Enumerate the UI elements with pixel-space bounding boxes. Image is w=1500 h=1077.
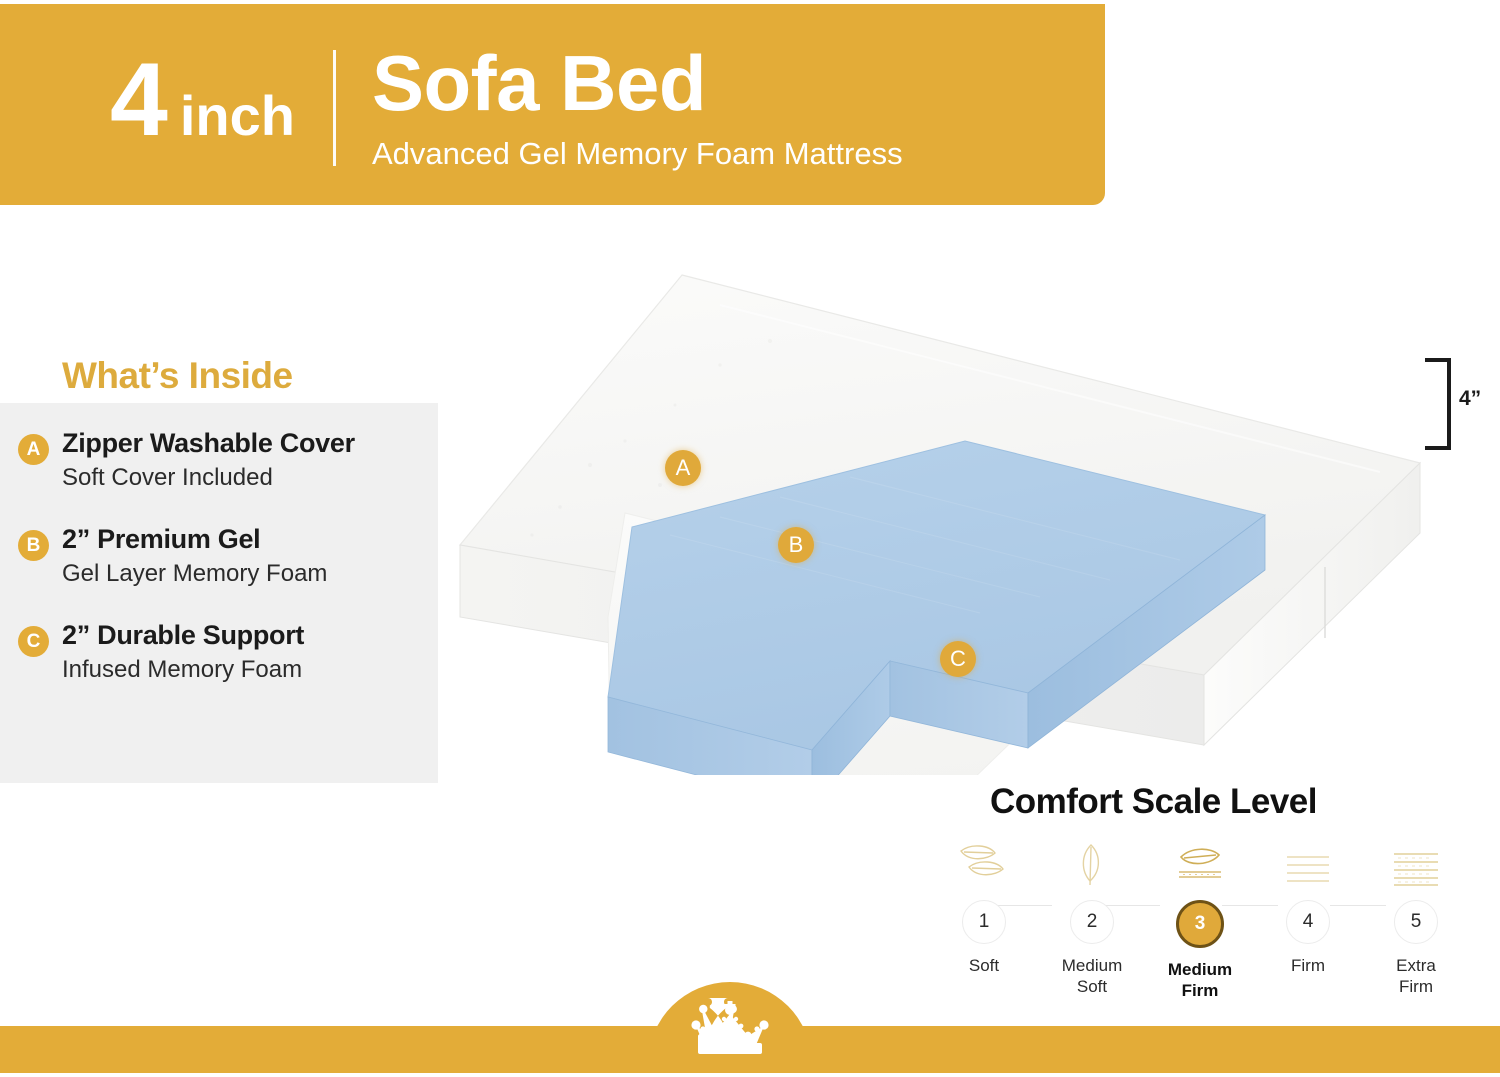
size-block: 4 inch bbox=[110, 40, 295, 148]
product-title: Sofa Bed bbox=[372, 44, 903, 122]
dense-lines-icon bbox=[1387, 836, 1445, 894]
scale-label-2-line2: Soft bbox=[1077, 977, 1107, 996]
badge-b: B bbox=[18, 530, 49, 561]
list-item-subtitle: Infused Memory Foam bbox=[62, 654, 304, 685]
list-item: B 2” Premium Gel Gel Layer Memory Foam bbox=[18, 524, 448, 589]
whats-inside-list: A Zipper Washable Cover Soft Cover Inclu… bbox=[18, 428, 448, 716]
header-divider bbox=[333, 50, 336, 166]
size-unit: inch bbox=[180, 91, 295, 141]
scale-level-1[interactable]: 1 Soft bbox=[930, 836, 1038, 1002]
bottom-rule bbox=[0, 1073, 1500, 1077]
list-item: C 2” Durable Support Infused Memory Foam bbox=[18, 620, 448, 685]
list-item-title: Zipper Washable Cover bbox=[62, 428, 355, 460]
callout-b-gel: B bbox=[778, 527, 814, 563]
scale-node-3[interactable]: 3 bbox=[1176, 900, 1224, 948]
comfort-scale: 1 Soft 2 Medium Soft bbox=[930, 836, 1470, 1002]
badge-c: C bbox=[18, 626, 49, 657]
scale-label-5: Extra Firm bbox=[1396, 955, 1436, 998]
comfort-scale-title: Comfort Scale Level bbox=[990, 782, 1317, 822]
list-item-text: 2” Premium Gel Gel Layer Memory Foam bbox=[62, 524, 327, 589]
scale-label-3-line2: Firm bbox=[1182, 981, 1219, 1000]
title-block: Sofa Bed Advanced Gel Memory Foam Mattre… bbox=[372, 40, 903, 172]
scale-label-3-line1: Medium bbox=[1168, 960, 1232, 979]
callout-c-support: C bbox=[940, 641, 976, 677]
callout-a-cover: A bbox=[665, 450, 701, 486]
list-item-text: Zipper Washable Cover Soft Cover Include… bbox=[62, 428, 355, 493]
scale-node-5[interactable]: 5 bbox=[1394, 900, 1438, 944]
scale-label-5-line2: Firm bbox=[1399, 977, 1433, 996]
product-subtitle: Advanced Gel Memory Foam Mattress bbox=[372, 136, 903, 172]
list-item-subtitle: Gel Layer Memory Foam bbox=[62, 558, 327, 589]
list-item: A Zipper Washable Cover Soft Cover Inclu… bbox=[18, 428, 448, 493]
height-measure-label: 4” bbox=[1459, 387, 1481, 411]
feather-on-lines-icon bbox=[1171, 836, 1229, 894]
three-lines-icon bbox=[1279, 836, 1337, 894]
list-item-text: 2” Durable Support Infused Memory Foam bbox=[62, 620, 304, 685]
scale-node-1[interactable]: 1 bbox=[962, 900, 1006, 944]
header-content: 4 inch Sofa Bed Advanced Gel Memory Foam… bbox=[110, 40, 903, 172]
badge-a: A bbox=[18, 434, 49, 465]
whats-inside-heading: What’s Inside bbox=[62, 355, 293, 397]
scale-label-4: Firm bbox=[1291, 955, 1325, 976]
scale-level-5[interactable]: 5 Extra Firm bbox=[1362, 836, 1470, 1002]
header-band: 4 inch Sofa Bed Advanced Gel Memory Foam… bbox=[0, 4, 1105, 205]
single-feather-icon bbox=[1063, 836, 1121, 894]
mattress-svg bbox=[420, 245, 1430, 775]
scale-level-4[interactable]: 4 Firm bbox=[1254, 836, 1362, 1002]
list-item-subtitle: Soft Cover Included bbox=[62, 462, 355, 493]
height-measure-bracket bbox=[1425, 358, 1451, 450]
scale-label-3: Medium Firm bbox=[1168, 959, 1232, 1002]
mattress-cutaway-illustration: A B C bbox=[420, 245, 1430, 775]
list-item-title: 2” Durable Support bbox=[62, 620, 304, 652]
crown-icon bbox=[686, 998, 774, 1056]
product-infographic: 4 inch Sofa Bed Advanced Gel Memory Foam… bbox=[0, 0, 1500, 1077]
scale-level-2[interactable]: 2 Medium Soft bbox=[1038, 836, 1146, 1002]
list-item-title: 2” Premium Gel bbox=[62, 524, 327, 556]
scale-label-1: Soft bbox=[969, 955, 999, 976]
scale-level-3[interactable]: 3 Medium Firm bbox=[1146, 836, 1254, 1002]
scale-label-5-line1: Extra bbox=[1396, 956, 1436, 975]
scale-label-2: Medium Soft bbox=[1062, 955, 1122, 998]
two-feathers-icon bbox=[955, 836, 1013, 894]
scale-node-4[interactable]: 4 bbox=[1286, 900, 1330, 944]
scale-label-2-line1: Medium bbox=[1062, 956, 1122, 975]
size-number: 4 bbox=[110, 54, 166, 148]
scale-node-2[interactable]: 2 bbox=[1070, 900, 1114, 944]
